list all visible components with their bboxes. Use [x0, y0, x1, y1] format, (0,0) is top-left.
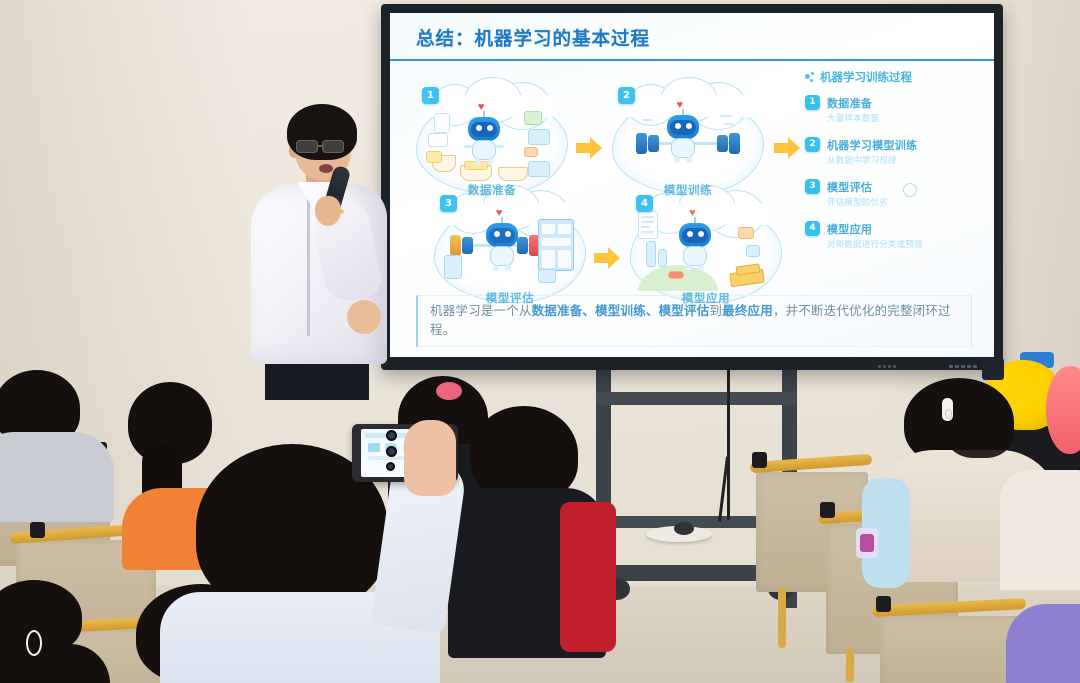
classroom-scene: 总结：机器学习的基本过程 1: [0, 0, 1080, 683]
wall-display[interactable]: 总结：机器学习的基本过程 1: [381, 4, 1003, 370]
flow-node-label: 模型评估: [434, 290, 586, 306]
camera-lens-icon: [386, 462, 395, 471]
panel-item-badge: 2: [805, 137, 820, 152]
title-divider: [390, 59, 994, 61]
flow-arrow-3: [594, 247, 620, 269]
flow-node-label: 数据准备: [416, 182, 568, 198]
summary-text: 机器学习是一个从数据准备、模型训练、模型评估到最终应用，并不断迭代优化的完整闭环…: [430, 301, 961, 340]
panel-item-title: 模型应用: [827, 221, 923, 237]
panel-heading-row: 机器学习训练过程: [805, 69, 990, 85]
flow-arrow-1: [576, 137, 602, 159]
panel-heading-text: 机器学习训练过程: [820, 69, 912, 85]
sparkle-icon: [805, 72, 816, 83]
illustration-data-prep: ♥: [424, 103, 560, 181]
illustration-application: ♥: [638, 211, 774, 289]
presenter-hand-lower: [347, 300, 381, 334]
robot-character: ♥: [663, 109, 703, 161]
camera-lens-icon: [386, 446, 397, 457]
panel-item-title: 模型评估: [827, 179, 888, 195]
panel-item-list: 1 数据准备 大量样本数据 2 机器学习模型训练 从数据中学习规律: [805, 95, 990, 250]
panel-item-badge: 1: [805, 95, 820, 110]
robot-character: ♥: [464, 111, 504, 163]
display-indicator: [878, 365, 908, 368]
display-brand-mark: [949, 364, 985, 368]
panel-item-subtitle: 评估模型的优劣: [827, 196, 888, 208]
flow-node-badge: 2: [618, 87, 635, 104]
flow-node-training[interactable]: 2 ♥: [612, 97, 764, 195]
presenter: [243, 104, 393, 394]
flow-node-label: 模型训练: [612, 182, 764, 198]
panel-item-badge: 4: [805, 221, 820, 236]
panel-item[interactable]: 4 模型应用 对新数据进行分类或预测: [805, 221, 990, 250]
flow-node-application[interactable]: 4: [630, 205, 782, 303]
flow-node-badge: 1: [422, 87, 439, 104]
panel-item-subtitle: 对新数据进行分类或预测: [827, 238, 923, 250]
flow-node-label: 模型应用: [630, 290, 782, 306]
power-cable: [727, 368, 730, 520]
photographer-hand: [404, 420, 456, 496]
panel-item-title: 数据准备: [827, 95, 879, 111]
illustration-evaluation: ♥: [442, 211, 578, 289]
panel-item[interactable]: 3 模型评估 评估模型的优劣: [805, 179, 990, 208]
flow-node-data-prep[interactable]: 1 ♥: [416, 97, 568, 195]
flow-node-badge: 4: [636, 195, 653, 212]
presenter-hand-holding-mic: [315, 196, 341, 226]
robot-character: ♥: [482, 217, 522, 269]
panel-item-badge: 3: [805, 179, 820, 194]
panel-item[interactable]: 2 机器学习模型训练 从数据中学习规律: [805, 137, 990, 166]
panel-item-title: 机器学习模型训练: [827, 137, 917, 153]
panel-item-subtitle: 从数据中学习规律: [827, 154, 917, 166]
camera-lens-icon: [386, 430, 397, 441]
flow-arrow-2: [774, 137, 800, 159]
process-flow-diagram: 1 ♥: [416, 75, 808, 295]
slide-canvas[interactable]: 总结：机器学习的基本过程 1: [390, 13, 994, 357]
hair-clip: [942, 398, 953, 421]
eyeglasses-icon: [296, 140, 352, 154]
slide-title: 总结：机器学习的基本过程: [416, 25, 650, 51]
badge-patch-inner: [860, 534, 874, 552]
panel-item-subtitle: 大量样本数据: [827, 112, 879, 124]
flow-node-badge: 3: [440, 195, 457, 212]
cursor-ring-artifact: [903, 183, 917, 197]
robot-character: ♥: [675, 217, 715, 269]
panel-item[interactable]: 1 数据准备 大量样本数据: [805, 95, 990, 124]
training-process-panel: 机器学习训练过程 1 数据准备 大量样本数据 2 机器学习模型训练: [805, 69, 990, 250]
illustration-training: ♥: [620, 103, 756, 181]
flow-node-evaluation[interactable]: 3: [434, 205, 586, 303]
